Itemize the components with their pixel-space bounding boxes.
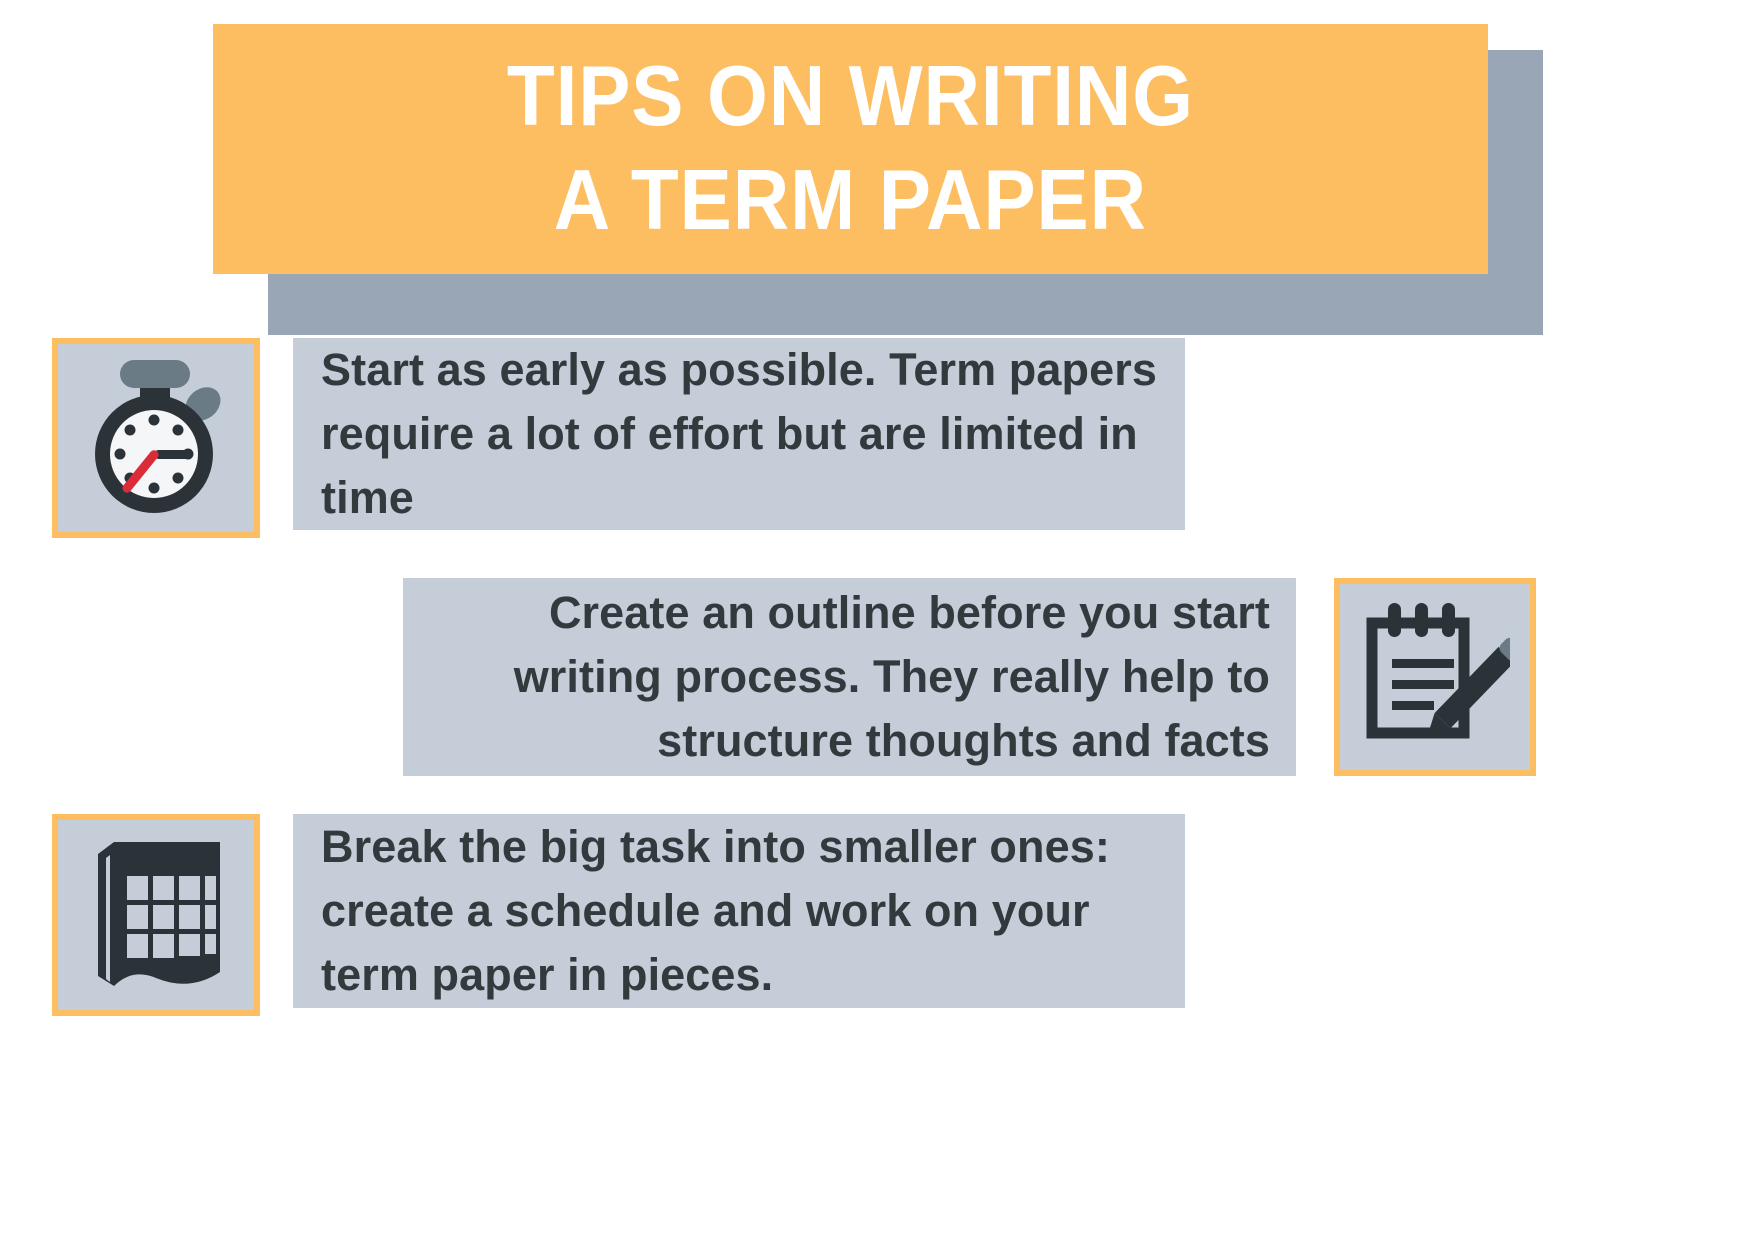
tip-text: Break the big task into smaller ones: cr…: [321, 815, 1159, 1007]
tip-text: Create an outline before you start writi…: [431, 581, 1270, 773]
tip-text-box: Break the big task into smaller ones: cr…: [293, 814, 1185, 1008]
calendar-icon-box: [52, 814, 260, 1016]
notepad-pencil-icon: [1360, 601, 1510, 753]
tip-row: Break the big task into smaller ones: cr…: [52, 814, 1185, 1016]
calendar-icon: [80, 836, 232, 994]
page-title-line-2: A TERM PAPER: [554, 149, 1147, 253]
tip-row: Create an outline before you start writi…: [403, 578, 1536, 776]
notepad-pencil-icon-box: [1334, 578, 1536, 776]
tip-text: Start as early as possible. Term papers …: [321, 338, 1159, 530]
stopwatch-icon: [80, 358, 232, 518]
tip-row: Start as early as possible. Term papers …: [52, 338, 1185, 538]
tip-text-box: Create an outline before you start writi…: [403, 578, 1296, 776]
tip-text-box: Start as early as possible. Term papers …: [293, 338, 1185, 530]
stopwatch-icon-box: [52, 338, 260, 538]
page-title-line-1: TIPS ON WRITING: [507, 45, 1194, 149]
title-area: TIPS ON WRITING A TERM PAPER: [0, 0, 1747, 320]
title-banner: TIPS ON WRITING A TERM PAPER: [213, 24, 1488, 274]
